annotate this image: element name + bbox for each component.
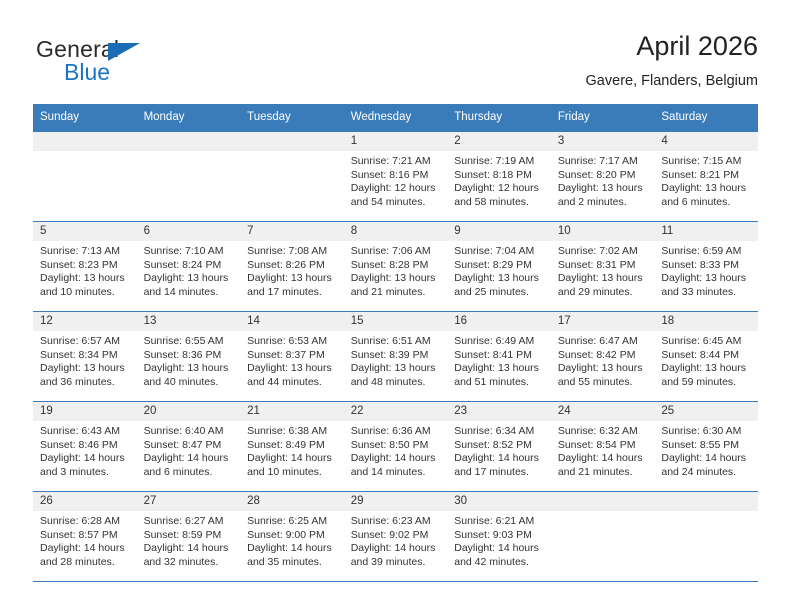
sunset-time: Sunset: 8:42 PM	[558, 349, 649, 363]
sunset-time: Sunset: 8:31 PM	[558, 259, 649, 273]
weekday-header-thursday: Thursday	[447, 104, 551, 132]
day-number: 19	[33, 402, 137, 421]
sunrise-time: Sunrise: 6:53 AM	[247, 335, 338, 349]
day-info: Sunrise: 6:30 AMSunset: 8:55 PMDaylight:…	[654, 421, 758, 479]
daylight-duration-line1: Daylight: 14 hours	[247, 542, 338, 556]
day-number: 7	[240, 222, 344, 241]
daylight-duration-line2: and 21 minutes.	[558, 466, 649, 480]
day-info: Sunrise: 6:32 AMSunset: 8:54 PMDaylight:…	[551, 421, 655, 479]
day-cell-content: 19Sunrise: 6:43 AMSunset: 8:46 PMDayligh…	[33, 402, 137, 491]
sunrise-time: Sunrise: 6:57 AM	[40, 335, 131, 349]
sunset-time: Sunset: 8:29 PM	[454, 259, 545, 273]
sunset-time: Sunset: 8:24 PM	[144, 259, 235, 273]
day-info	[240, 151, 344, 155]
day-info	[654, 511, 758, 515]
day-cell-content: 22Sunrise: 6:36 AMSunset: 8:50 PMDayligh…	[344, 402, 448, 491]
day-cell-content: 26Sunrise: 6:28 AMSunset: 8:57 PMDayligh…	[33, 492, 137, 581]
day-info: Sunrise: 6:23 AMSunset: 9:02 PMDaylight:…	[344, 511, 448, 569]
daylight-duration-line2: and 10 minutes.	[247, 466, 338, 480]
day-cell-content: 5Sunrise: 7:13 AMSunset: 8:23 PMDaylight…	[33, 222, 137, 311]
day-info: Sunrise: 7:13 AMSunset: 8:23 PMDaylight:…	[33, 241, 137, 299]
day-cell-content: 16Sunrise: 6:49 AMSunset: 8:41 PMDayligh…	[447, 312, 551, 401]
day-number: 3	[551, 132, 655, 151]
daylight-duration-line1: Daylight: 14 hours	[661, 452, 752, 466]
sunset-time: Sunset: 8:47 PM	[144, 439, 235, 453]
daylight-duration-line2: and 39 minutes.	[351, 556, 442, 570]
calendar-day-cell[interactable]: 8Sunrise: 7:06 AMSunset: 8:28 PMDaylight…	[344, 222, 448, 312]
day-cell-content: 28Sunrise: 6:25 AMSunset: 9:00 PMDayligh…	[240, 492, 344, 581]
sunrise-time: Sunrise: 7:02 AM	[558, 245, 649, 259]
calendar-day-cell[interactable]: 28Sunrise: 6:25 AMSunset: 9:00 PMDayligh…	[240, 492, 344, 582]
day-cell-content: 23Sunrise: 6:34 AMSunset: 8:52 PMDayligh…	[447, 402, 551, 491]
day-info: Sunrise: 6:49 AMSunset: 8:41 PMDaylight:…	[447, 331, 551, 389]
day-info	[551, 511, 655, 515]
day-number: 15	[344, 312, 448, 331]
day-info: Sunrise: 6:36 AMSunset: 8:50 PMDaylight:…	[344, 421, 448, 479]
day-cell-content	[551, 492, 655, 581]
day-number: 29	[344, 492, 448, 511]
sunset-time: Sunset: 8:28 PM	[351, 259, 442, 273]
daylight-duration-line1: Daylight: 13 hours	[558, 272, 649, 286]
sunrise-time: Sunrise: 6:21 AM	[454, 515, 545, 529]
day-cell-content	[240, 132, 344, 221]
sunset-time: Sunset: 8:41 PM	[454, 349, 545, 363]
daylight-duration-line1: Daylight: 12 hours	[454, 182, 545, 196]
daylight-duration-line2: and 40 minutes.	[144, 376, 235, 390]
sunrise-time: Sunrise: 7:19 AM	[454, 155, 545, 169]
daylight-duration-line1: Daylight: 13 hours	[40, 272, 131, 286]
day-cell-content: 6Sunrise: 7:10 AMSunset: 8:24 PMDaylight…	[137, 222, 241, 311]
day-number: 20	[137, 402, 241, 421]
day-number: 13	[137, 312, 241, 331]
sunset-time: Sunset: 8:57 PM	[40, 529, 131, 543]
sunset-time: Sunset: 8:37 PM	[247, 349, 338, 363]
daylight-duration-line1: Daylight: 14 hours	[351, 542, 442, 556]
daylight-duration-line2: and 44 minutes.	[247, 376, 338, 390]
day-info: Sunrise: 6:40 AMSunset: 8:47 PMDaylight:…	[137, 421, 241, 479]
daylight-duration-line1: Daylight: 13 hours	[247, 272, 338, 286]
weekday-header-friday: Friday	[551, 104, 655, 132]
day-number: 14	[240, 312, 344, 331]
day-number: 4	[654, 132, 758, 151]
page-title: April 2026	[586, 30, 758, 62]
sunrise-time: Sunrise: 6:40 AM	[144, 425, 235, 439]
day-info: Sunrise: 6:53 AMSunset: 8:37 PMDaylight:…	[240, 331, 344, 389]
sunrise-time: Sunrise: 6:47 AM	[558, 335, 649, 349]
calendar-day-cell[interactable]: 17Sunrise: 6:47 AMSunset: 8:42 PMDayligh…	[551, 312, 655, 402]
day-cell-content: 4Sunrise: 7:15 AMSunset: 8:21 PMDaylight…	[654, 132, 758, 221]
sunrise-time: Sunrise: 7:13 AM	[40, 245, 131, 259]
daylight-duration-line2: and 6 minutes.	[144, 466, 235, 480]
calendar-day-cell[interactable]: 9Sunrise: 7:04 AMSunset: 8:29 PMDaylight…	[447, 222, 551, 312]
sunset-time: Sunset: 8:46 PM	[40, 439, 131, 453]
calendar-day-cell[interactable]: 30Sunrise: 6:21 AMSunset: 9:03 PMDayligh…	[447, 492, 551, 582]
weekday-header-sunday: Sunday	[33, 104, 137, 132]
sunset-time: Sunset: 8:26 PM	[247, 259, 338, 273]
sunrise-time: Sunrise: 6:32 AM	[558, 425, 649, 439]
sunset-time: Sunset: 8:16 PM	[351, 169, 442, 183]
daylight-duration-line1: Daylight: 14 hours	[247, 452, 338, 466]
daylight-duration-line1: Daylight: 14 hours	[144, 542, 235, 556]
calendar-header-row: Sunday Monday Tuesday Wednesday Thursday…	[33, 104, 758, 132]
calendar-day-cell[interactable]: 1Sunrise: 7:21 AMSunset: 8:16 PMDaylight…	[344, 132, 448, 222]
sunset-time: Sunset: 8:52 PM	[454, 439, 545, 453]
day-number: 22	[344, 402, 448, 421]
sunrise-time: Sunrise: 7:04 AM	[454, 245, 545, 259]
daylight-duration-line1: Daylight: 14 hours	[454, 542, 545, 556]
sunset-time: Sunset: 8:59 PM	[144, 529, 235, 543]
sunrise-time: Sunrise: 7:10 AM	[144, 245, 235, 259]
daylight-duration-line1: Daylight: 13 hours	[144, 272, 235, 286]
calendar-week-row: 12Sunrise: 6:57 AMSunset: 8:34 PMDayligh…	[33, 312, 758, 402]
day-info: Sunrise: 7:04 AMSunset: 8:29 PMDaylight:…	[447, 241, 551, 299]
daylight-duration-line1: Daylight: 13 hours	[454, 362, 545, 376]
sunrise-time: Sunrise: 7:15 AM	[661, 155, 752, 169]
calendar-day-cell[interactable]: 11Sunrise: 6:59 AMSunset: 8:33 PMDayligh…	[654, 222, 758, 312]
calendar-week-row: 19Sunrise: 6:43 AMSunset: 8:46 PMDayligh…	[33, 402, 758, 492]
weekday-header-saturday: Saturday	[654, 104, 758, 132]
daylight-duration-line1: Daylight: 14 hours	[40, 542, 131, 556]
calendar-day-cell[interactable]: 3Sunrise: 7:17 AMSunset: 8:20 PMDaylight…	[551, 132, 655, 222]
daylight-duration-line2: and 21 minutes.	[351, 286, 442, 300]
day-number: 24	[551, 402, 655, 421]
sunset-time: Sunset: 9:03 PM	[454, 529, 545, 543]
sunset-time: Sunset: 8:54 PM	[558, 439, 649, 453]
calendar-day-cell[interactable]: 27Sunrise: 6:27 AMSunset: 8:59 PMDayligh…	[137, 492, 241, 582]
calendar-grid: Sunday Monday Tuesday Wednesday Thursday…	[33, 104, 758, 582]
day-info: Sunrise: 6:51 AMSunset: 8:39 PMDaylight:…	[344, 331, 448, 389]
day-cell-content: 3Sunrise: 7:17 AMSunset: 8:20 PMDaylight…	[551, 132, 655, 221]
calendar-day-cell[interactable]: 18Sunrise: 6:45 AMSunset: 8:44 PMDayligh…	[654, 312, 758, 402]
daylight-duration-line1: Daylight: 14 hours	[454, 452, 545, 466]
sunrise-time: Sunrise: 6:34 AM	[454, 425, 545, 439]
day-cell-content	[33, 132, 137, 221]
day-number: 11	[654, 222, 758, 241]
sunrise-time: Sunrise: 6:25 AM	[247, 515, 338, 529]
sunrise-time: Sunrise: 7:06 AM	[351, 245, 442, 259]
daylight-duration-line2: and 14 minutes.	[351, 466, 442, 480]
calendar-day-cell-empty	[654, 492, 758, 582]
calendar-day-cell-empty	[551, 492, 655, 582]
daylight-duration-line2: and 36 minutes.	[40, 376, 131, 390]
sunset-time: Sunset: 8:39 PM	[351, 349, 442, 363]
daylight-duration-line2: and 24 minutes.	[661, 466, 752, 480]
calendar-day-cell[interactable]: 4Sunrise: 7:15 AMSunset: 8:21 PMDaylight…	[654, 132, 758, 222]
daylight-duration-line2: and 14 minutes.	[144, 286, 235, 300]
day-number	[33, 132, 137, 151]
daylight-duration-line2: and 17 minutes.	[247, 286, 338, 300]
sunset-time: Sunset: 8:36 PM	[144, 349, 235, 363]
calendar-day-cell[interactable]: 26Sunrise: 6:28 AMSunset: 8:57 PMDayligh…	[33, 492, 137, 582]
sunset-time: Sunset: 9:00 PM	[247, 529, 338, 543]
daylight-duration-line2: and 25 minutes.	[454, 286, 545, 300]
daylight-duration-line2: and 42 minutes.	[454, 556, 545, 570]
day-number: 26	[33, 492, 137, 511]
logo-text-blue: Blue	[64, 59, 110, 86]
daylight-duration-line1: Daylight: 14 hours	[351, 452, 442, 466]
sunrise-time: Sunrise: 7:08 AM	[247, 245, 338, 259]
day-number: 28	[240, 492, 344, 511]
sunset-time: Sunset: 8:50 PM	[351, 439, 442, 453]
calendar-day-cell[interactable]: 20Sunrise: 6:40 AMSunset: 8:47 PMDayligh…	[137, 402, 241, 492]
calendar-day-cell[interactable]: 15Sunrise: 6:51 AMSunset: 8:39 PMDayligh…	[344, 312, 448, 402]
sunrise-time: Sunrise: 6:23 AM	[351, 515, 442, 529]
calendar-day-cell[interactable]: 7Sunrise: 7:08 AMSunset: 8:26 PMDaylight…	[240, 222, 344, 312]
day-number: 2	[447, 132, 551, 151]
daylight-duration-line2: and 58 minutes.	[454, 196, 545, 210]
daylight-duration-line1: Daylight: 13 hours	[454, 272, 545, 286]
day-cell-content: 17Sunrise: 6:47 AMSunset: 8:42 PMDayligh…	[551, 312, 655, 401]
day-info: Sunrise: 6:21 AMSunset: 9:03 PMDaylight:…	[447, 511, 551, 569]
day-info	[137, 151, 241, 155]
calendar-week-row: 5Sunrise: 7:13 AMSunset: 8:23 PMDaylight…	[33, 222, 758, 312]
calendar-day-cell[interactable]: 25Sunrise: 6:30 AMSunset: 8:55 PMDayligh…	[654, 402, 758, 492]
day-info: Sunrise: 7:10 AMSunset: 8:24 PMDaylight:…	[137, 241, 241, 299]
triangle-icon	[108, 43, 140, 61]
day-cell-content: 15Sunrise: 6:51 AMSunset: 8:39 PMDayligh…	[344, 312, 448, 401]
daylight-duration-line2: and 29 minutes.	[558, 286, 649, 300]
daylight-duration-line2: and 54 minutes.	[351, 196, 442, 210]
day-info: Sunrise: 6:38 AMSunset: 8:49 PMDaylight:…	[240, 421, 344, 479]
daylight-duration-line2: and 10 minutes.	[40, 286, 131, 300]
day-info: Sunrise: 7:15 AMSunset: 8:21 PMDaylight:…	[654, 151, 758, 209]
sunrise-time: Sunrise: 6:59 AM	[661, 245, 752, 259]
sunset-time: Sunset: 8:44 PM	[661, 349, 752, 363]
calendar-day-cell[interactable]: 13Sunrise: 6:55 AMSunset: 8:36 PMDayligh…	[137, 312, 241, 402]
sunset-time: Sunset: 8:33 PM	[661, 259, 752, 273]
daylight-duration-line2: and 2 minutes.	[558, 196, 649, 210]
day-info: Sunrise: 6:25 AMSunset: 9:00 PMDaylight:…	[240, 511, 344, 569]
day-cell-content: 11Sunrise: 6:59 AMSunset: 8:33 PMDayligh…	[654, 222, 758, 311]
day-info: Sunrise: 7:06 AMSunset: 8:28 PMDaylight:…	[344, 241, 448, 299]
day-number: 23	[447, 402, 551, 421]
day-number: 8	[344, 222, 448, 241]
sunset-time: Sunset: 8:21 PM	[661, 169, 752, 183]
daylight-duration-line2: and 6 minutes.	[661, 196, 752, 210]
sunrise-time: Sunrise: 6:45 AM	[661, 335, 752, 349]
day-cell-content: 24Sunrise: 6:32 AMSunset: 8:54 PMDayligh…	[551, 402, 655, 491]
day-cell-content: 27Sunrise: 6:27 AMSunset: 8:59 PMDayligh…	[137, 492, 241, 581]
daylight-duration-line2: and 28 minutes.	[40, 556, 131, 570]
daylight-duration-line2: and 59 minutes.	[661, 376, 752, 390]
sunrise-time: Sunrise: 7:17 AM	[558, 155, 649, 169]
day-number: 30	[447, 492, 551, 511]
daylight-duration-line1: Daylight: 13 hours	[247, 362, 338, 376]
calendar-day-cell[interactable]: 2Sunrise: 7:19 AMSunset: 8:18 PMDaylight…	[447, 132, 551, 222]
sunset-time: Sunset: 9:02 PM	[351, 529, 442, 543]
daylight-duration-line1: Daylight: 14 hours	[40, 452, 131, 466]
day-cell-content	[654, 492, 758, 581]
sunset-time: Sunset: 8:23 PM	[40, 259, 131, 273]
day-number: 25	[654, 402, 758, 421]
sunset-time: Sunset: 8:18 PM	[454, 169, 545, 183]
day-number: 10	[551, 222, 655, 241]
page-header: General Blue April 2026 Gavere, Flanders…	[0, 0, 792, 98]
sunrise-time: Sunrise: 6:43 AM	[40, 425, 131, 439]
calendar-day-cell[interactable]: 12Sunrise: 6:57 AMSunset: 8:34 PMDayligh…	[33, 312, 137, 402]
day-cell-content: 29Sunrise: 6:23 AMSunset: 9:02 PMDayligh…	[344, 492, 448, 581]
day-info: Sunrise: 6:28 AMSunset: 8:57 PMDaylight:…	[33, 511, 137, 569]
daylight-duration-line1: Daylight: 13 hours	[661, 362, 752, 376]
day-info: Sunrise: 7:19 AMSunset: 8:18 PMDaylight:…	[447, 151, 551, 209]
day-number: 12	[33, 312, 137, 331]
daylight-duration-line1: Daylight: 13 hours	[40, 362, 131, 376]
sunrise-time: Sunrise: 6:38 AM	[247, 425, 338, 439]
sunrise-time: Sunrise: 6:30 AM	[661, 425, 752, 439]
day-info: Sunrise: 7:02 AMSunset: 8:31 PMDaylight:…	[551, 241, 655, 299]
sunrise-time: Sunrise: 7:21 AM	[351, 155, 442, 169]
day-number: 6	[137, 222, 241, 241]
sunrise-time: Sunrise: 6:49 AM	[454, 335, 545, 349]
daylight-duration-line1: Daylight: 13 hours	[351, 362, 442, 376]
weekday-header-wednesday: Wednesday	[344, 104, 448, 132]
daylight-duration-line1: Daylight: 13 hours	[351, 272, 442, 286]
day-number: 5	[33, 222, 137, 241]
calendar-day-cell[interactable]: 14Sunrise: 6:53 AMSunset: 8:37 PMDayligh…	[240, 312, 344, 402]
day-number: 16	[447, 312, 551, 331]
calendar-week-row: 26Sunrise: 6:28 AMSunset: 8:57 PMDayligh…	[33, 492, 758, 582]
calendar-page: General Blue April 2026 Gavere, Flanders…	[0, 0, 792, 612]
sunset-time: Sunset: 8:34 PM	[40, 349, 131, 363]
day-cell-content: 12Sunrise: 6:57 AMSunset: 8:34 PMDayligh…	[33, 312, 137, 401]
calendar-day-cell[interactable]: 5Sunrise: 7:13 AMSunset: 8:23 PMDaylight…	[33, 222, 137, 312]
daylight-duration-line1: Daylight: 14 hours	[558, 452, 649, 466]
day-info: Sunrise: 6:55 AMSunset: 8:36 PMDaylight:…	[137, 331, 241, 389]
day-number	[551, 492, 655, 511]
weekday-header-monday: Monday	[137, 104, 241, 132]
day-number: 1	[344, 132, 448, 151]
calendar-day-cell[interactable]: 6Sunrise: 7:10 AMSunset: 8:24 PMDaylight…	[137, 222, 241, 312]
day-info: Sunrise: 6:47 AMSunset: 8:42 PMDaylight:…	[551, 331, 655, 389]
daylight-duration-line2: and 48 minutes.	[351, 376, 442, 390]
calendar-day-cell[interactable]: 10Sunrise: 7:02 AMSunset: 8:31 PMDayligh…	[551, 222, 655, 312]
sunrise-time: Sunrise: 6:28 AM	[40, 515, 131, 529]
daylight-duration-line2: and 35 minutes.	[247, 556, 338, 570]
day-cell-content: 1Sunrise: 7:21 AMSunset: 8:16 PMDaylight…	[344, 132, 448, 221]
daylight-duration-line2: and 17 minutes.	[454, 466, 545, 480]
day-number	[240, 132, 344, 151]
calendar-day-cell[interactable]: 21Sunrise: 6:38 AMSunset: 8:49 PMDayligh…	[240, 402, 344, 492]
day-cell-content: 8Sunrise: 7:06 AMSunset: 8:28 PMDaylight…	[344, 222, 448, 311]
day-number: 27	[137, 492, 241, 511]
day-info: Sunrise: 6:43 AMSunset: 8:46 PMDaylight:…	[33, 421, 137, 479]
general-blue-logo[interactable]: General Blue	[36, 36, 276, 90]
calendar-day-cell-empty	[137, 132, 241, 222]
day-info: Sunrise: 6:27 AMSunset: 8:59 PMDaylight:…	[137, 511, 241, 569]
day-info	[33, 151, 137, 155]
day-cell-content: 14Sunrise: 6:53 AMSunset: 8:37 PMDayligh…	[240, 312, 344, 401]
daylight-duration-line1: Daylight: 12 hours	[351, 182, 442, 196]
day-number: 17	[551, 312, 655, 331]
day-number: 21	[240, 402, 344, 421]
daylight-duration-line1: Daylight: 14 hours	[144, 452, 235, 466]
sunrise-time: Sunrise: 6:27 AM	[144, 515, 235, 529]
daylight-duration-line1: Daylight: 13 hours	[558, 362, 649, 376]
day-cell-content: 10Sunrise: 7:02 AMSunset: 8:31 PMDayligh…	[551, 222, 655, 311]
sunrise-time: Sunrise: 6:51 AM	[351, 335, 442, 349]
day-info: Sunrise: 6:34 AMSunset: 8:52 PMDaylight:…	[447, 421, 551, 479]
day-number: 18	[654, 312, 758, 331]
calendar-day-cell[interactable]: 16Sunrise: 6:49 AMSunset: 8:41 PMDayligh…	[447, 312, 551, 402]
day-info: Sunrise: 7:08 AMSunset: 8:26 PMDaylight:…	[240, 241, 344, 299]
day-info: Sunrise: 7:17 AMSunset: 8:20 PMDaylight:…	[551, 151, 655, 209]
day-cell-content	[137, 132, 241, 221]
day-cell-content: 25Sunrise: 6:30 AMSunset: 8:55 PMDayligh…	[654, 402, 758, 491]
day-info: Sunrise: 6:45 AMSunset: 8:44 PMDaylight:…	[654, 331, 758, 389]
day-cell-content: 2Sunrise: 7:19 AMSunset: 8:18 PMDaylight…	[447, 132, 551, 221]
day-cell-content: 21Sunrise: 6:38 AMSunset: 8:49 PMDayligh…	[240, 402, 344, 491]
day-number	[137, 132, 241, 151]
sunrise-time: Sunrise: 6:36 AM	[351, 425, 442, 439]
calendar-day-cell-empty	[33, 132, 137, 222]
day-cell-content: 30Sunrise: 6:21 AMSunset: 9:03 PMDayligh…	[447, 492, 551, 581]
day-cell-content: 18Sunrise: 6:45 AMSunset: 8:44 PMDayligh…	[654, 312, 758, 401]
daylight-duration-line1: Daylight: 13 hours	[144, 362, 235, 376]
calendar-day-cell[interactable]: 24Sunrise: 6:32 AMSunset: 8:54 PMDayligh…	[551, 402, 655, 492]
weekday-header-tuesday: Tuesday	[240, 104, 344, 132]
calendar-day-cell-empty	[240, 132, 344, 222]
calendar-day-cell[interactable]: 22Sunrise: 6:36 AMSunset: 8:50 PMDayligh…	[344, 402, 448, 492]
day-cell-content: 9Sunrise: 7:04 AMSunset: 8:29 PMDaylight…	[447, 222, 551, 311]
page-subtitle: Gavere, Flanders, Belgium	[586, 72, 758, 90]
sunset-time: Sunset: 8:49 PM	[247, 439, 338, 453]
sunrise-time: Sunrise: 6:55 AM	[144, 335, 235, 349]
calendar-week-row: 1Sunrise: 7:21 AMSunset: 8:16 PMDaylight…	[33, 132, 758, 222]
day-cell-content: 7Sunrise: 7:08 AMSunset: 8:26 PMDaylight…	[240, 222, 344, 311]
sunset-time: Sunset: 8:55 PM	[661, 439, 752, 453]
day-info: Sunrise: 7:21 AMSunset: 8:16 PMDaylight:…	[344, 151, 448, 209]
daylight-duration-line2: and 33 minutes.	[661, 286, 752, 300]
calendar-body: 1Sunrise: 7:21 AMSunset: 8:16 PMDaylight…	[33, 132, 758, 582]
title-block: April 2026 Gavere, Flanders, Belgium	[586, 30, 758, 90]
day-info: Sunrise: 6:59 AMSunset: 8:33 PMDaylight:…	[654, 241, 758, 299]
daylight-duration-line1: Daylight: 13 hours	[661, 182, 752, 196]
calendar-day-cell[interactable]: 29Sunrise: 6:23 AMSunset: 9:02 PMDayligh…	[344, 492, 448, 582]
day-number: 9	[447, 222, 551, 241]
daylight-duration-line2: and 51 minutes.	[454, 376, 545, 390]
day-cell-content: 13Sunrise: 6:55 AMSunset: 8:36 PMDayligh…	[137, 312, 241, 401]
day-info: Sunrise: 6:57 AMSunset: 8:34 PMDaylight:…	[33, 331, 137, 389]
sunset-time: Sunset: 8:20 PM	[558, 169, 649, 183]
calendar-day-cell[interactable]: 23Sunrise: 6:34 AMSunset: 8:52 PMDayligh…	[447, 402, 551, 492]
daylight-duration-line1: Daylight: 13 hours	[661, 272, 752, 286]
day-cell-content: 20Sunrise: 6:40 AMSunset: 8:47 PMDayligh…	[137, 402, 241, 491]
daylight-duration-line2: and 3 minutes.	[40, 466, 131, 480]
day-number	[654, 492, 758, 511]
daylight-duration-line2: and 32 minutes.	[144, 556, 235, 570]
daylight-duration-line1: Daylight: 13 hours	[558, 182, 649, 196]
calendar-day-cell[interactable]: 19Sunrise: 6:43 AMSunset: 8:46 PMDayligh…	[33, 402, 137, 492]
daylight-duration-line2: and 55 minutes.	[558, 376, 649, 390]
